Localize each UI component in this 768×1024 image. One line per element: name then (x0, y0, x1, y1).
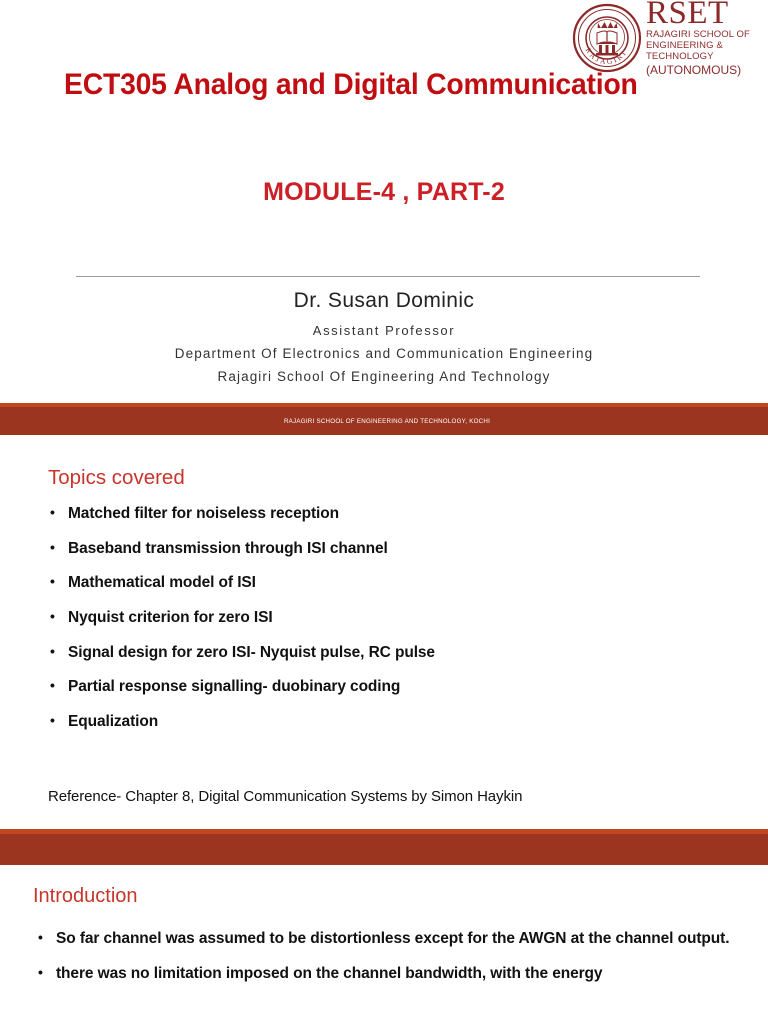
logo-subtitle-line-2: ENGINEERING & TECHNOLOGY (646, 40, 768, 62)
list-item: Nyquist criterion for zero ISI (46, 610, 706, 626)
rset-logo: RAJAGIRI RSET RAJAGIRI SCHOOL OF ENGINEE… (572, 2, 768, 74)
introduction-slide: Introduction So far channel was assumed … (0, 865, 768, 1024)
list-item: Equalization (46, 714, 706, 730)
author-name: Dr. Susan Dominic (0, 286, 768, 316)
slide-footer-bar-one: RAJAGIRI SCHOOL OF ENGINEERING AND TECHN… (0, 403, 768, 435)
reference-text: Reference- Chapter 8, Digital Communicat… (48, 788, 522, 805)
list-item: So far channel was assumed to be distort… (30, 925, 730, 954)
rajagiri-crest-icon: RAJAGIRI (572, 3, 642, 73)
introduction-heading: Introduction (33, 885, 138, 908)
author-role: Assistant Professor (0, 323, 768, 338)
footer-bar-body (0, 834, 768, 865)
logo-subtitle-line-1: RAJAGIRI SCHOOL OF (646, 29, 768, 40)
list-item: Partial response signalling- duobinary c… (46, 679, 706, 695)
list-item: Matched filter for noiseless reception (46, 506, 706, 522)
list-item: Baseband transmission through ISI channe… (46, 541, 706, 557)
list-item: there was no limitation imposed on the c… (30, 960, 730, 989)
list-item: Mathematical model of ISI (46, 575, 706, 591)
footer-bar-body: RAJAGIRI SCHOOL OF ENGINEERING AND TECHN… (0, 407, 768, 435)
list-item: Signal design for zero ISI- Nyquist puls… (46, 645, 706, 661)
logo-wordmark: RSET (646, 0, 768, 29)
title-slide: RAJAGIRI RSET RAJAGIRI SCHOOL OF ENGINEE… (0, 0, 768, 436)
introduction-bullet-list: So far channel was assumed to be distort… (30, 925, 730, 994)
topics-slide: Topics covered Matched filter for noisel… (0, 436, 768, 829)
module-title: MODULE-4 , PART-2 (0, 178, 768, 207)
course-title: ECT305 Analog and Digital Communication (64, 68, 688, 102)
topics-bullet-list: Matched filter for noiseless reception B… (46, 506, 706, 749)
author-department: Department Of Electronics and Communicat… (0, 346, 768, 361)
topics-heading: Topics covered (48, 466, 185, 490)
slide-footer-bar-two (0, 829, 768, 865)
author-institute: Rajagiri School Of Engineering And Techn… (0, 369, 768, 384)
title-divider (76, 276, 700, 277)
author-block: Dr. Susan Dominic Assistant Professor De… (0, 286, 768, 384)
footer-bar-caption: RAJAGIRI SCHOOL OF ENGINEERING AND TECHN… (0, 407, 768, 435)
